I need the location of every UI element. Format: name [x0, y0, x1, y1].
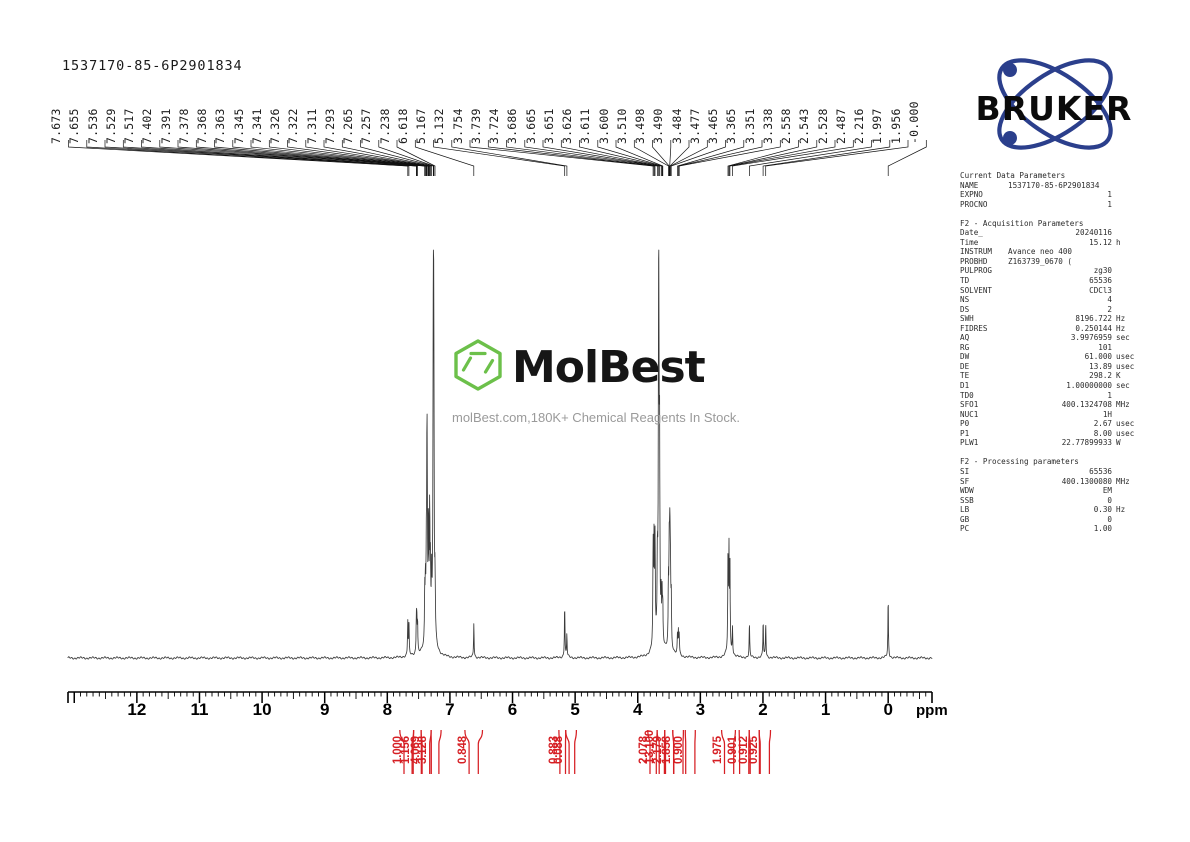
param-key: SOLVENT: [960, 286, 1008, 296]
param-key: PLW1: [960, 438, 1008, 448]
axis-tick-label: 4: [633, 700, 642, 720]
peak-leader: [415, 140, 474, 176]
integral-value: 3.128: [417, 736, 429, 764]
param-unit: h: [1112, 238, 1146, 248]
axis-unit-label: ppm: [916, 702, 948, 719]
param-unit: [1112, 276, 1146, 286]
param-row: SWH8196.722Hz: [960, 314, 1146, 324]
peak-label: 3.365: [724, 108, 738, 144]
param-unit: [1112, 467, 1146, 477]
axis-tick-label: 3: [696, 700, 705, 720]
param-value: zg30: [1008, 266, 1112, 276]
peak-label: 7.529: [104, 108, 118, 144]
param-key: Date_: [960, 228, 1008, 238]
param-value: 298.2: [1008, 371, 1112, 381]
axis-tick-label: 7: [445, 700, 454, 720]
integral-value: 1.858: [661, 736, 673, 764]
peak-label: 3.739: [469, 108, 483, 144]
peak-label: 1.956: [889, 108, 903, 144]
acquisition-parameter-table: Current Data ParametersNAME1537170-85-6P…: [960, 171, 1146, 534]
param-section-heading: Current Data Parameters: [960, 171, 1146, 181]
param-row: INSTRUMAvance neo 400: [960, 247, 1146, 257]
param-row: D11.00000000sec: [960, 381, 1146, 391]
param-row: SFO1400.1324708MHz: [960, 400, 1146, 410]
param-value: 2.67: [1008, 419, 1112, 429]
axis-tick-label: 5: [570, 700, 579, 720]
peak-label: 3.477: [688, 108, 702, 144]
param-value: CDCl3: [1008, 286, 1112, 296]
param-value: 8.00: [1008, 429, 1112, 439]
param-value: 65536: [1008, 467, 1112, 477]
param-key: EXPNO: [960, 190, 1008, 200]
axis-tick-labels: ppm 1211109876543210: [0, 700, 1190, 728]
param-row: NS4: [960, 295, 1146, 305]
param-row: PLW122.77899933W: [960, 438, 1146, 448]
integral-value: 1.975: [712, 736, 724, 764]
peak-label: 7.341: [250, 108, 264, 144]
param-key: NS: [960, 295, 1008, 305]
spectrum-trace: [68, 250, 932, 659]
param-value: 1.00: [1008, 524, 1112, 534]
peak-label: 3.600: [597, 108, 611, 144]
param-key: Time: [960, 238, 1008, 248]
param-row: SOLVENTCDCl3: [960, 286, 1146, 296]
param-key: SSB: [960, 496, 1008, 506]
param-value: 2: [1008, 305, 1112, 315]
param-row: PULPROGzg30: [960, 266, 1146, 276]
param-key: P0: [960, 419, 1008, 429]
param-value: 0: [1008, 496, 1112, 506]
peak-label: 3.465: [706, 108, 720, 144]
peak-label: 3.626: [560, 108, 574, 144]
peak-label: 3.510: [615, 108, 629, 144]
param-value: EM: [1008, 486, 1112, 496]
param-row: P02.67usec: [960, 419, 1146, 429]
param-value: 22.77899933: [1008, 438, 1112, 448]
param-key: NUC1: [960, 410, 1008, 420]
peak-label: 7.655: [67, 108, 81, 144]
param-unit: [1112, 295, 1146, 305]
peak-label: 7.322: [286, 108, 300, 144]
param-value: 0.250144: [1008, 324, 1112, 334]
axis-tick-label: 1: [821, 700, 830, 720]
param-unit: sec: [1112, 381, 1146, 391]
axis-tick-label: 2: [758, 700, 767, 720]
param-row: AQ3.9976959sec: [960, 333, 1146, 343]
param-unit: [1112, 515, 1146, 525]
peak-label: 3.338: [761, 108, 775, 144]
param-value: 400.1300080: [1008, 477, 1112, 487]
param-key: DE: [960, 362, 1008, 372]
param-key: LB: [960, 505, 1008, 515]
peak-label: 7.391: [159, 108, 173, 144]
param-value: Z163739_0670 (: [1008, 257, 1146, 267]
param-row: SSB0: [960, 496, 1146, 506]
peak-label: 3.724: [487, 108, 501, 144]
peak-label: 5.167: [414, 108, 428, 144]
param-key: FIDRES: [960, 324, 1008, 334]
axis-tick-label: 9: [320, 700, 329, 720]
param-unit: K: [1112, 371, 1146, 381]
param-key: SI: [960, 467, 1008, 477]
axis-tick-label: 8: [383, 700, 392, 720]
peak-label: 1.997: [870, 108, 884, 144]
param-key: SF: [960, 477, 1008, 487]
param-section-heading: F2 - Acquisition Parameters: [960, 219, 1146, 229]
param-row: FIDRES0.250144Hz: [960, 324, 1146, 334]
param-key: TE: [960, 371, 1008, 381]
param-unit: usec: [1112, 352, 1146, 362]
param-value: 0.30: [1008, 505, 1112, 515]
param-key: RG: [960, 343, 1008, 353]
param-value: 1537170-85-6P2901834: [1008, 181, 1146, 191]
param-key: PC: [960, 524, 1008, 534]
peak-label: 7.326: [268, 108, 282, 144]
param-key: P1: [960, 429, 1008, 439]
peak-leader: [634, 140, 668, 176]
peak-leader: [766, 140, 908, 176]
param-key: DS: [960, 305, 1008, 315]
peak-label: 7.238: [378, 108, 392, 144]
peak-label: 7.257: [359, 108, 373, 144]
peak-label: 2.543: [797, 108, 811, 144]
peak-leader: [888, 140, 926, 176]
integral-bracket: [759, 730, 770, 774]
param-unit: sec: [1112, 333, 1146, 343]
peak-label: 3.754: [451, 108, 465, 144]
param-unit: [1112, 486, 1146, 496]
peak-label-strip: 7.6737.6557.5367.5297.5177.4027.3917.378…: [60, 84, 940, 144]
param-value: 20240116: [1008, 228, 1112, 238]
peak-leader: [507, 140, 656, 176]
param-unit: Hz: [1112, 505, 1146, 515]
param-key: PROBHD: [960, 257, 1008, 267]
integration-values: 1.0001.1564.0693.1280.8480.8830.0882.078…: [0, 728, 1190, 828]
param-row: DW61.000usec: [960, 352, 1146, 362]
param-row: WDWEM: [960, 486, 1146, 496]
param-row: PC1.00: [960, 524, 1146, 534]
param-value: 8196.722: [1008, 314, 1112, 324]
peak-leader: [488, 140, 654, 176]
param-unit: [1112, 305, 1146, 315]
param-unit: Hz: [1112, 324, 1146, 334]
param-value: 13.89: [1008, 362, 1112, 372]
peak-label: 7.517: [122, 108, 136, 144]
param-key: DW: [960, 352, 1008, 362]
peak-label: 2.487: [834, 108, 848, 144]
param-value: 400.1324708: [1008, 400, 1112, 410]
axis-tick-label: 0: [883, 700, 892, 720]
param-unit: [1112, 286, 1146, 296]
param-value: 3.9976959: [1008, 333, 1112, 343]
param-row: TD01: [960, 391, 1146, 401]
peak-label: 3.651: [542, 108, 556, 144]
param-value: 0: [1008, 515, 1112, 525]
axis-tick-label: 11: [191, 700, 209, 720]
param-row: GB0: [960, 515, 1146, 525]
param-value: Avance neo 400: [1008, 247, 1146, 257]
param-section-heading: F2 - Processing parameters: [960, 457, 1146, 467]
param-row: TE298.2K: [960, 371, 1146, 381]
param-row: RG101: [960, 343, 1146, 353]
param-key: GB: [960, 515, 1008, 525]
param-row: NUC11H: [960, 410, 1146, 420]
integral-value: 0.848: [457, 736, 469, 764]
peak-label: 5.132: [432, 108, 446, 144]
param-row: Time15.12h: [960, 238, 1146, 248]
param-unit: [1112, 524, 1146, 534]
param-unit: [1112, 343, 1146, 353]
param-row: PROCNO1: [960, 200, 1146, 210]
integral-value: 0.925: [748, 736, 760, 764]
nmr-report-page: 1537170-85-6P2901834 7.6737.6557.5367.52…: [0, 0, 1190, 842]
peak-label: 7.402: [140, 108, 154, 144]
param-key: PULPROG: [960, 266, 1008, 276]
param-value: 15.12: [1008, 238, 1112, 248]
param-row: TD65536: [960, 276, 1146, 286]
param-unit: [1112, 496, 1146, 506]
param-row: PROBHDZ163739_0670 (: [960, 257, 1146, 267]
peak-label: 7.368: [195, 108, 209, 144]
param-key: AQ: [960, 333, 1008, 343]
peak-leader: [616, 140, 663, 176]
axis-tick-label: 12: [127, 700, 146, 720]
peak-label: 7.265: [341, 108, 355, 144]
param-unit: W: [1112, 438, 1146, 448]
peak-label: 2.558: [779, 108, 793, 144]
param-unit: [1112, 410, 1146, 420]
peak-label: 3.665: [524, 108, 538, 144]
param-spacer: [960, 448, 1146, 458]
param-unit: [1112, 391, 1146, 401]
peak-label: -0.000: [907, 101, 921, 144]
param-row: P18.00usec: [960, 429, 1146, 439]
peak-label: 7.363: [213, 108, 227, 144]
param-key: SWH: [960, 314, 1008, 324]
param-key: TD0: [960, 391, 1008, 401]
param-key: SFO1: [960, 400, 1008, 410]
param-unit: MHz: [1112, 477, 1146, 487]
peak-leader: [678, 140, 744, 176]
param-spacer: [960, 209, 1146, 219]
param-row: DE13.89usec: [960, 362, 1146, 372]
peak-label: 6.618: [396, 108, 410, 144]
axis-tick-label: 10: [253, 700, 272, 720]
param-value: 1: [1008, 200, 1112, 210]
peak-label: 7.345: [232, 108, 246, 144]
peak-label: 7.378: [177, 108, 191, 144]
param-unit: usec: [1112, 362, 1146, 372]
param-key: TD: [960, 276, 1008, 286]
peak-label: 7.536: [86, 108, 100, 144]
param-unit: [1112, 190, 1146, 200]
peak-label: 7.311: [305, 108, 319, 144]
peak-label: 3.484: [670, 108, 684, 144]
peak-label: 2.216: [852, 108, 866, 144]
peak-label: 7.673: [49, 108, 63, 144]
peak-label: 3.686: [505, 108, 519, 144]
page-title: 1537170-85-6P2901834: [62, 58, 243, 74]
integral-value: 0.900: [673, 736, 685, 764]
param-value: 1: [1008, 190, 1112, 200]
peak-label: 3.611: [578, 108, 592, 144]
peak-label: 2.528: [816, 108, 830, 144]
param-value: 1H: [1008, 410, 1112, 420]
bruker-wordmark: BRUKER: [956, 92, 1152, 125]
param-row: SI65536: [960, 467, 1146, 477]
param-unit: [1112, 200, 1146, 210]
param-row: DS2: [960, 305, 1146, 315]
integral-value: 0.088: [553, 736, 565, 764]
param-unit: Hz: [1112, 314, 1146, 324]
param-value: 61.000: [1008, 352, 1112, 362]
param-key: WDW: [960, 486, 1008, 496]
param-row: SF400.1300080MHz: [960, 477, 1146, 487]
peak-label: 3.490: [651, 108, 665, 144]
param-unit: usec: [1112, 429, 1146, 439]
param-value: 4: [1008, 295, 1112, 305]
param-unit: usec: [1112, 419, 1146, 429]
peak-label: 3.351: [743, 108, 757, 144]
param-key: D1: [960, 381, 1008, 391]
param-key: INSTRUM: [960, 247, 1008, 257]
param-value: 1: [1008, 391, 1112, 401]
param-key: NAME: [960, 181, 1008, 191]
param-value: 1.00000000: [1008, 381, 1112, 391]
param-key: PROCNO: [960, 200, 1008, 210]
param-row: Date_20240116: [960, 228, 1146, 238]
param-value: 101: [1008, 343, 1112, 353]
peak-label: 3.498: [633, 108, 647, 144]
param-unit: [1112, 266, 1146, 276]
param-value: 65536: [1008, 276, 1112, 286]
param-row: EXPNO1: [960, 190, 1146, 200]
param-row: LB0.30Hz: [960, 505, 1146, 515]
peak-label: 7.293: [323, 108, 337, 144]
bruker-logo: BRUKER: [958, 48, 1153, 160]
peak-leader: [434, 140, 565, 176]
param-unit: [1112, 228, 1146, 238]
integral-bracket: [685, 730, 695, 774]
param-row: NAME1537170-85-6P2901834: [960, 181, 1146, 191]
param-unit: MHz: [1112, 400, 1146, 410]
axis-tick-label: 6: [508, 700, 517, 720]
